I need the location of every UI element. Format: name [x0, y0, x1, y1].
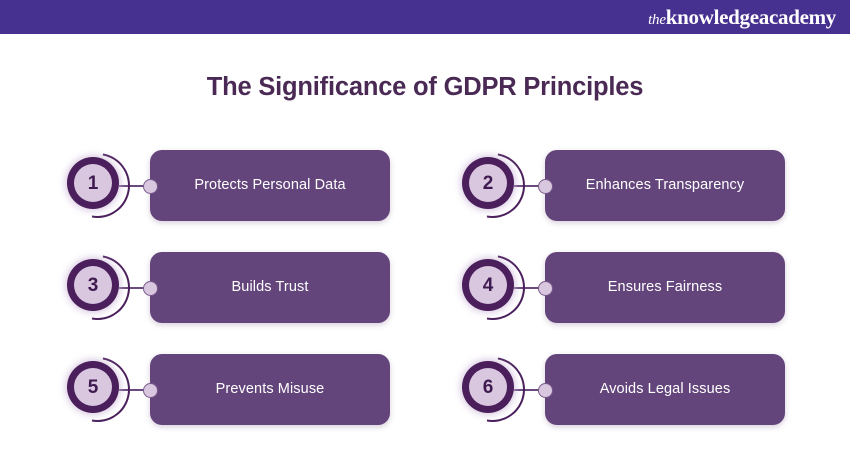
- principle-card[interactable]: Builds Trust: [150, 252, 390, 323]
- badge-number: 4: [483, 276, 494, 295]
- connector-dot-icon: [143, 281, 158, 296]
- principle-card[interactable]: Avoids Legal Issues: [545, 354, 785, 425]
- badge-inner-circle: 5: [74, 368, 112, 406]
- principle-card-label: Avoids Legal Issues: [600, 380, 731, 398]
- connector-dot-icon: [538, 281, 553, 296]
- number-badge: 6: [457, 354, 528, 425]
- connector-dot-icon: [143, 179, 158, 194]
- connector-dot-icon: [538, 179, 553, 194]
- badge-number: 1: [88, 174, 99, 193]
- principle-item[interactable]: 3 Builds Trust: [62, 252, 457, 323]
- connector-dot-icon: [538, 383, 553, 398]
- badge-number: 6: [483, 378, 494, 397]
- principle-card-label: Builds Trust: [232, 278, 309, 296]
- principle-card-label: Prevents Misuse: [216, 380, 325, 398]
- principle-item[interactable]: 6 Avoids Legal Issues: [457, 354, 850, 425]
- principles-grid: 1 Protects Personal Data 2 Enhances Tran…: [0, 150, 850, 425]
- brand-logo-prefix: the: [648, 12, 666, 29]
- badge-number: 2: [483, 174, 494, 193]
- principle-card[interactable]: Ensures Fairness: [545, 252, 785, 323]
- number-badge: 3: [62, 252, 133, 323]
- badge-number: 5: [88, 378, 99, 397]
- badge-ring-icon: 6: [462, 361, 514, 413]
- badge-number: 3: [88, 276, 99, 295]
- brand-logo[interactable]: theknowledgeacademy: [648, 5, 836, 30]
- badge-inner-circle: 2: [469, 164, 507, 202]
- badge-ring-icon: 3: [67, 259, 119, 311]
- page-title: The Significance of GDPR Principles: [0, 73, 850, 102]
- number-badge: 4: [457, 252, 528, 323]
- badge-ring-icon: 1: [67, 157, 119, 209]
- number-badge: 2: [457, 150, 528, 221]
- badge-inner-circle: 4: [469, 266, 507, 304]
- principle-card-label: Enhances Transparency: [586, 176, 744, 194]
- brand-logo-main: knowledgeacademy: [666, 5, 836, 30]
- badge-ring-icon: 2: [462, 157, 514, 209]
- badge-inner-circle: 3: [74, 266, 112, 304]
- number-badge: 1: [62, 150, 133, 221]
- principle-card[interactable]: Prevents Misuse: [150, 354, 390, 425]
- badge-ring-icon: 5: [67, 361, 119, 413]
- badge-ring-icon: 4: [462, 259, 514, 311]
- principle-card-label: Protects Personal Data: [194, 176, 345, 194]
- principle-item[interactable]: 5 Prevents Misuse: [62, 354, 457, 425]
- principle-card[interactable]: Enhances Transparency: [545, 150, 785, 221]
- badge-inner-circle: 6: [469, 368, 507, 406]
- principle-item[interactable]: 4 Ensures Fairness: [457, 252, 850, 323]
- principle-card-label: Ensures Fairness: [608, 278, 722, 296]
- badge-inner-circle: 1: [74, 164, 112, 202]
- principle-item[interactable]: 1 Protects Personal Data: [62, 150, 457, 221]
- principle-item[interactable]: 2 Enhances Transparency: [457, 150, 850, 221]
- number-badge: 5: [62, 354, 133, 425]
- page-header: theknowledgeacademy: [0, 0, 850, 34]
- principle-card[interactable]: Protects Personal Data: [150, 150, 390, 221]
- connector-dot-icon: [143, 383, 158, 398]
